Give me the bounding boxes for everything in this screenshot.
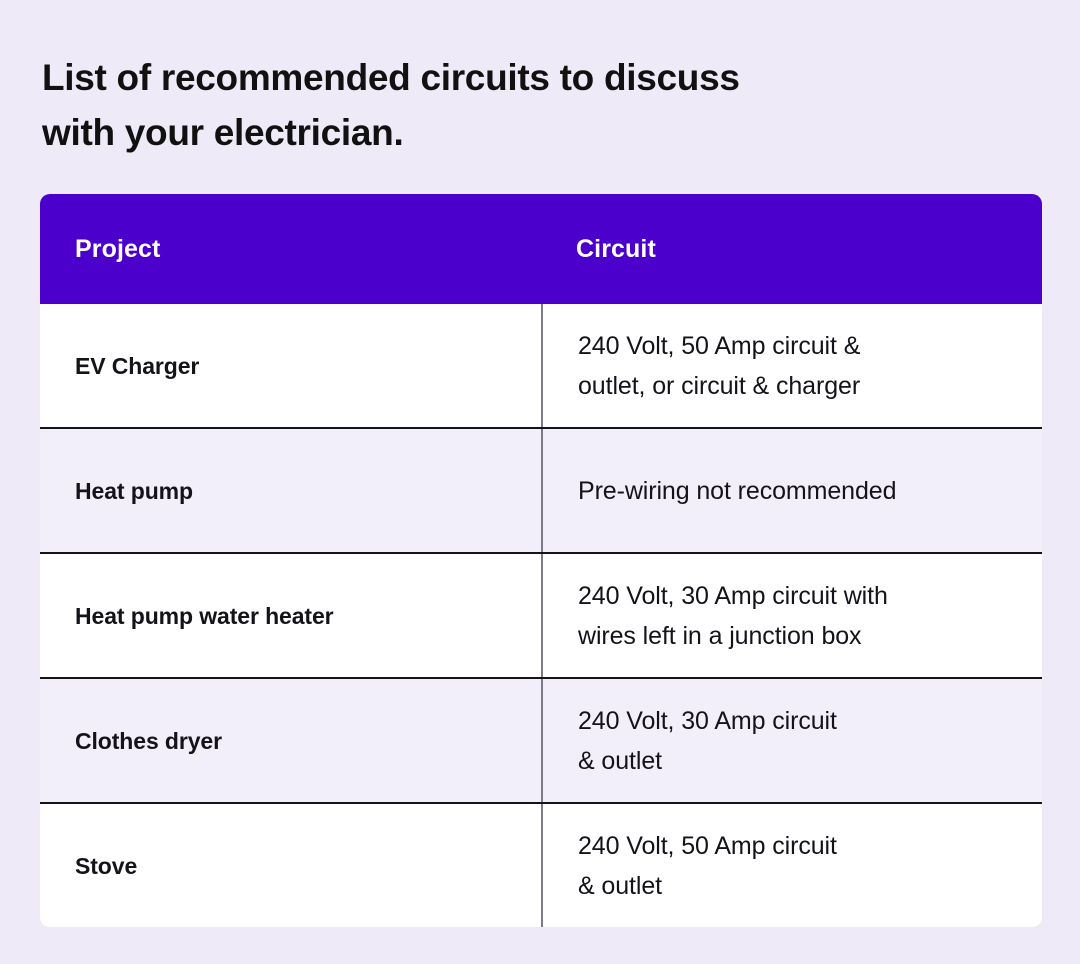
infographic-page: List of recommended circuits to discuss … <box>0 0 1080 964</box>
table-row: EV Charger 240 Volt, 50 Amp circuit & ou… <box>40 304 1042 427</box>
cell-project: Heat pump <box>40 429 541 552</box>
table-header-row: Project Circuit <box>40 194 1042 304</box>
cell-project: Heat pump water heater <box>40 554 541 677</box>
cell-circuit: 240 Volt, 30 Amp circuit & outlet <box>541 679 1042 802</box>
page-title: List of recommended circuits to discuss … <box>42 50 902 160</box>
cell-circuit: 240 Volt, 50 Amp circuit & outlet <box>541 804 1042 927</box>
cell-circuit: 240 Volt, 30 Amp circuit with wires left… <box>541 554 1042 677</box>
table-row: Clothes dryer 240 Volt, 30 Amp circuit &… <box>40 677 1042 802</box>
cell-project: Stove <box>40 804 541 927</box>
table-row: Stove 240 Volt, 50 Amp circuit & outlet <box>40 802 1042 927</box>
cell-project: EV Charger <box>40 304 541 427</box>
table-row: Heat pump Pre-wiring not recommended <box>40 427 1042 552</box>
cell-project: Clothes dryer <box>40 679 541 802</box>
cell-circuit: 240 Volt, 50 Amp circuit & outlet, or ci… <box>541 304 1042 427</box>
table-row: Heat pump water heater 240 Volt, 30 Amp … <box>40 552 1042 677</box>
column-header-project: Project <box>40 235 541 264</box>
recommended-circuits-table: Project Circuit EV Charger 240 Volt, 50 … <box>40 194 1042 927</box>
cell-circuit: Pre-wiring not recommended <box>541 429 1042 552</box>
column-header-circuit: Circuit <box>541 235 1042 264</box>
